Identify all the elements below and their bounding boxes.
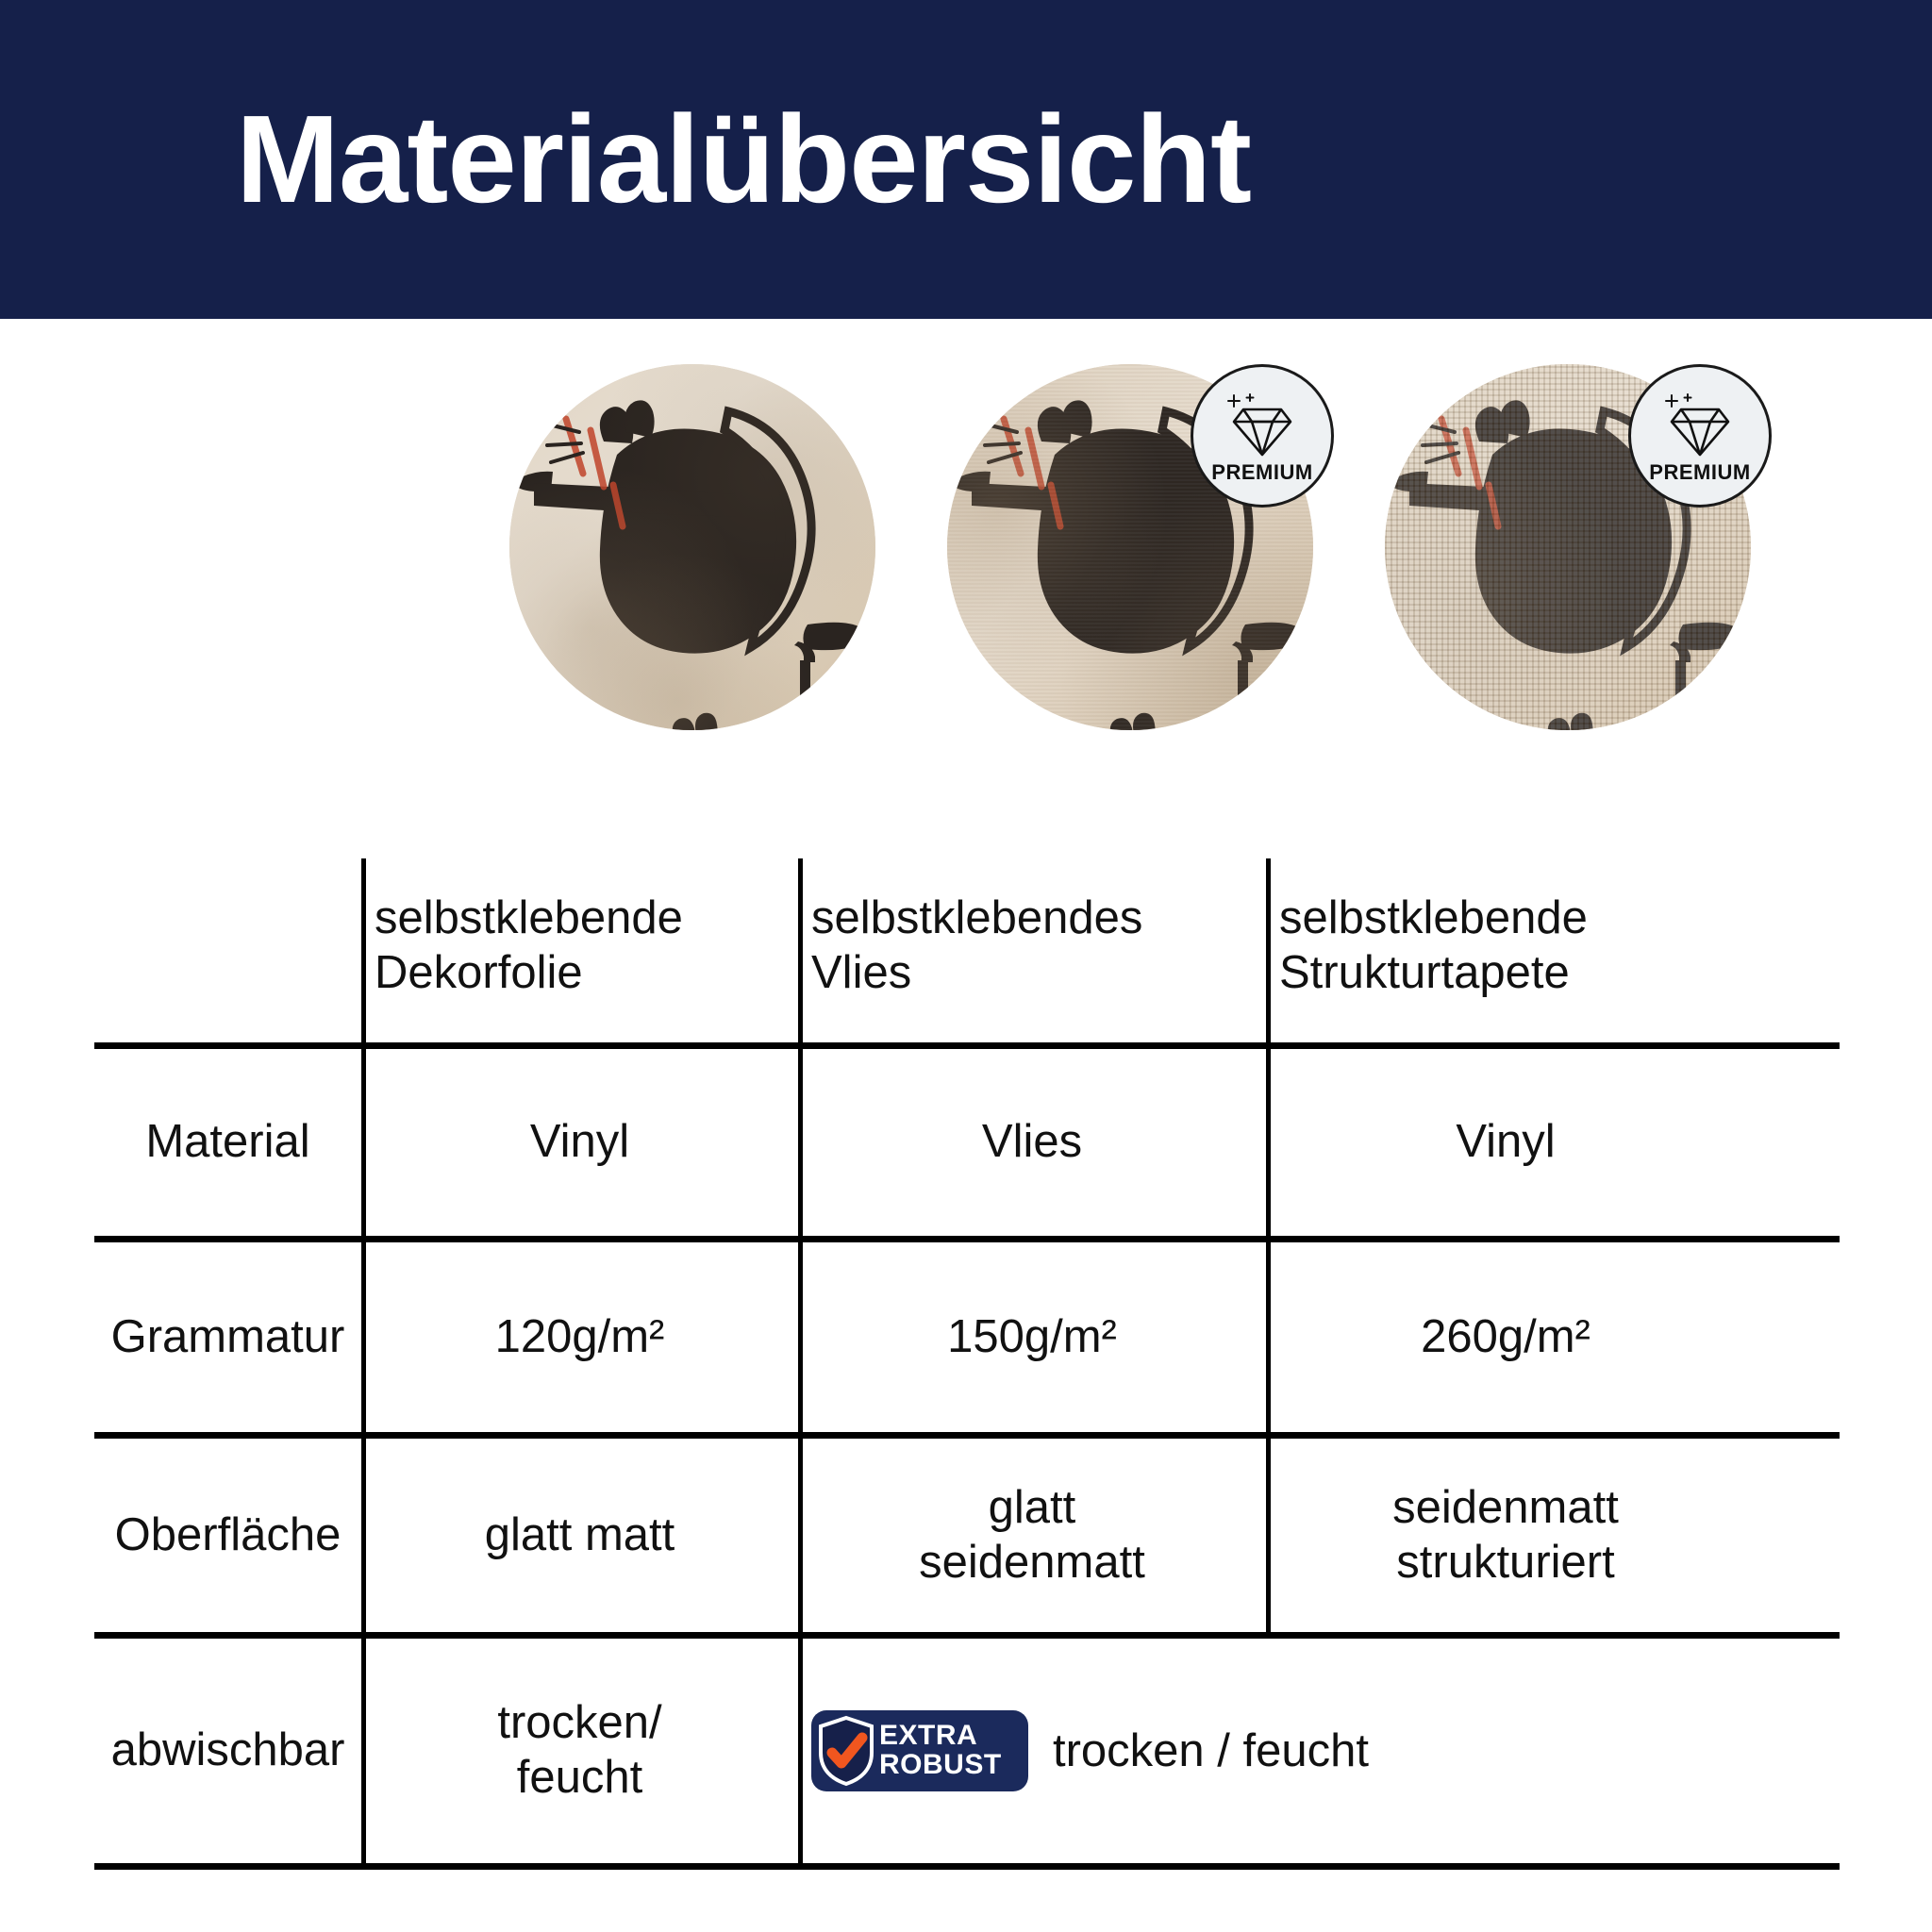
material-overview-page: Materialübersicht (0, 0, 1932, 1932)
table-divider (94, 1042, 1840, 1049)
shield-check-icon (817, 1715, 875, 1787)
material-swatch-row: PREMIUM PREMIUM (0, 357, 1932, 753)
material-spec-table: selbstklebende Dekorfolie selbstklebende… (94, 849, 1840, 1868)
table-column-divider (1266, 858, 1271, 1639)
page-header: Materialübersicht (0, 0, 1932, 319)
cell-material-dekorfolie: Vinyl (361, 1049, 798, 1236)
table-divider (94, 1632, 1840, 1639)
table-divider (94, 1236, 1840, 1242)
premium-badge-label: PREMIUM (1211, 460, 1312, 485)
value-line-1: seidenmatt (1392, 1481, 1619, 1536)
cell-grammatur-dekorfolie: 120g/m² (361, 1242, 798, 1432)
table-divider (94, 1432, 1840, 1439)
value-line-1: trocken/ (497, 1696, 661, 1751)
header-line-2: Strukturtapete (1279, 946, 1588, 1001)
table-header-cell-dekorfolie: selbstklebende Dekorfolie (361, 849, 798, 1042)
cell-abwischbar-merged-text: trocken / feucht (1053, 1724, 1369, 1777)
row-label-grammatur: Grammatur (94, 1242, 361, 1432)
extra-robust-badge: EXTRA ROBUST (811, 1710, 1028, 1791)
cell-material-strukturtapete: Vinyl (1266, 1049, 1745, 1236)
table-row: abwischbar trocken/ feucht EXTRA ROBUST (94, 1639, 1840, 1863)
cell-abwischbar-dekorfolie: trocken/ feucht (361, 1639, 798, 1863)
table-header-cell-blank (94, 849, 361, 1042)
table-divider (94, 1863, 1840, 1870)
row-label-material: Material (94, 1049, 361, 1236)
header-line-2: Dekorfolie (375, 946, 683, 1001)
diamond-icon (1223, 392, 1302, 458)
header-line-1: selbstklebende (1279, 891, 1588, 946)
table-column-divider (361, 858, 366, 1863)
value-line-2: feucht (497, 1751, 661, 1806)
cell-grammatur-strukturtapete: 260g/m² (1266, 1242, 1745, 1432)
premium-badge: PREMIUM (1628, 364, 1772, 508)
premium-badge: PREMIUM (1191, 364, 1334, 508)
header-line-2: Vlies (811, 946, 1142, 1001)
swatch-dekorfolie[interactable] (509, 364, 875, 730)
cell-oberflaeche-strukturtapete: seidenmatt strukturiert (1266, 1439, 1745, 1632)
value-line-1: glatt (919, 1481, 1145, 1536)
table-header-row: selbstklebende Dekorfolie selbstklebende… (94, 849, 1840, 1042)
cell-oberflaeche-dekorfolie: glatt matt (361, 1439, 798, 1632)
extra-robust-badge-text: EXTRA ROBUST (879, 1722, 1002, 1779)
table-header-cell-vlies: selbstklebendes Vlies (798, 849, 1266, 1042)
robust-line-2: ROBUST (879, 1751, 1002, 1780)
page-title: Materialübersicht (0, 97, 1251, 222)
header-line-1: selbstklebende (375, 891, 683, 946)
robust-line-1: EXTRA (879, 1722, 1002, 1751)
cell-abwischbar-merged: EXTRA ROBUST trocken / feucht (798, 1639, 1745, 1863)
value-line-2: strukturiert (1392, 1536, 1619, 1591)
diamond-icon (1660, 392, 1740, 458)
table-row: Material Vinyl Vlies Vinyl (94, 1049, 1840, 1236)
cell-oberflaeche-vlies: glatt seidenmatt (798, 1439, 1266, 1632)
premium-badge-label: PREMIUM (1649, 460, 1750, 485)
cell-material-vlies: Vlies (798, 1049, 1266, 1236)
table-row: Grammatur 120g/m² 150g/m² 260g/m² (94, 1242, 1840, 1432)
row-label-oberflaeche: Oberfläche (94, 1439, 361, 1632)
table-header-cell-strukturtapete: selbstklebende Strukturtapete (1266, 849, 1745, 1042)
table-row: Oberfläche glatt matt glatt seidenmatt s… (94, 1439, 1840, 1632)
cell-grammatur-vlies: 150g/m² (798, 1242, 1266, 1432)
row-label-abwischbar: abwischbar (94, 1639, 361, 1863)
banksy-rat-artwork-icon (509, 364, 875, 730)
header-line-1: selbstklebendes (811, 891, 1142, 946)
table-column-divider (798, 858, 803, 1863)
value-line-2: seidenmatt (919, 1536, 1145, 1591)
